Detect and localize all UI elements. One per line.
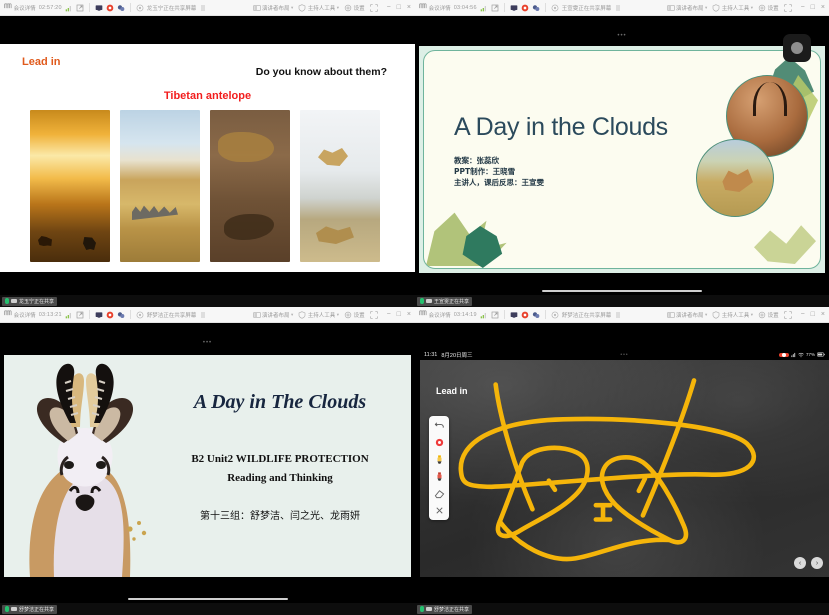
color-red-icon[interactable]: [434, 437, 445, 448]
highlighter-yellow-icon[interactable]: [434, 454, 445, 465]
pane3-settings-button[interactable]: 设置: [344, 311, 365, 319]
pane1-settings-label: 设置: [354, 4, 365, 12]
cloud-record-icon[interactable]: [532, 311, 540, 319]
letterbox-top: •••: [0, 339, 415, 355]
camera-icon: [426, 299, 432, 303]
pane4-settings-button[interactable]: 设置: [758, 311, 779, 319]
pane2-sharer-chip: 王宣雯正在共享: [417, 297, 472, 306]
pane1-host-tools-menu[interactable]: 主持人工具 ▾: [298, 4, 339, 12]
fullscreen-icon[interactable]: [784, 311, 792, 319]
chevron-down-icon: ▾: [337, 312, 339, 318]
layout-icon: [253, 4, 261, 12]
pane2-slide: A Day in the Clouds 教案：张蕊欣 PPT制作：王晓雪 主讲人…: [419, 46, 825, 273]
board-page-nav: ‹ ›: [794, 557, 823, 569]
slide-subtitle-line1: B2 Unit2 WILDLIFE PROTECTION: [154, 453, 406, 465]
screen-share-icon[interactable]: [95, 311, 103, 319]
minimize-button[interactable]: −: [387, 4, 391, 11]
pane1-sharer-chip: 龙玉宁正在共享: [2, 297, 57, 306]
fullscreen-icon[interactable]: [370, 4, 378, 12]
pane3-layout-menu[interactable]: 演讲者布局 ▾: [253, 311, 294, 319]
pane3-layout-menu-label: 演讲者布局: [262, 311, 290, 319]
divider: [89, 310, 90, 319]
gazelle-illustration: [8, 357, 148, 577]
divider: [130, 3, 131, 12]
layout-icon: [253, 311, 261, 319]
pane-cover-slide: ᗰᗰ 会议详情 03:13:21 舒梦洁正在共享屏幕 演讲者布局 ▾: [0, 307, 415, 615]
pane4-host-tools-label: 主持人工具: [722, 311, 750, 319]
share-status-icon: [551, 4, 559, 12]
gear-icon: [344, 4, 352, 12]
tencent-meeting-logo-icon: ᗰᗰ: [419, 311, 426, 318]
maximize-button[interactable]: □: [397, 311, 401, 318]
pane1-meeting-timer: 02:57:20: [39, 5, 62, 11]
pane3-host-tools-label: 主持人工具: [308, 311, 336, 319]
pane3-titlebar: ᗰᗰ 会议详情 03:13:21 舒梦洁正在共享屏幕 演讲者布局 ▾: [0, 307, 415, 323]
board-lead-in-label: Lead in: [436, 386, 468, 396]
chevron-down-icon: ▾: [705, 5, 707, 11]
signal-icon: [480, 4, 488, 12]
battery-icon: [817, 352, 825, 357]
gear-icon: [344, 311, 352, 319]
pane4-sharer-name: 舒梦洁正在共享: [434, 606, 469, 613]
pen-red-icon[interactable]: [434, 471, 445, 482]
pane2-settings-button[interactable]: 设置: [758, 4, 779, 12]
pane4-share-status: 舒梦洁正在共享屏幕: [562, 311, 612, 319]
pane4-settings-label: 设置: [768, 311, 779, 319]
chevron-down-icon: ▾: [291, 5, 293, 11]
pane1-titlebar-right: 演讲者布局 ▾ 主持人工具 ▾ 设置 − □ ×: [253, 4, 412, 12]
cloud-record-icon[interactable]: [532, 4, 540, 12]
pane1-footer: 龙玉宁正在共享: [0, 295, 415, 307]
pane-lead-in: ᗰᗰ 会议详情 02:57:20 龙玉宁正在共享屏幕 演讲者布局 ▾: [0, 0, 415, 307]
pane4-meeting-timer: 03:14:19: [454, 312, 477, 318]
pane1-host-tools-label: 主持人工具: [308, 4, 336, 12]
slide-subject: Tibetan antelope: [0, 90, 415, 102]
collapse-icon[interactable]: [614, 311, 622, 319]
pane2-layout-menu-label: 演讲者布局: [676, 4, 704, 12]
pane3-titlebar-right: 演讲者布局 ▾ 主持人工具 ▾ 设置 − □ ×: [253, 311, 412, 319]
phone-date: 8月20日周三: [441, 351, 472, 359]
pane1-settings-button[interactable]: 设置: [344, 4, 365, 12]
letterbox-top: [0, 32, 415, 44]
record-icon[interactable]: [106, 311, 114, 319]
pane1-window-controls: − □ ×: [387, 4, 411, 11]
share-toolbar-handle[interactable]: •••: [617, 34, 626, 38]
pane1-slide: Lead in Do you know about them? Tibetan …: [0, 44, 415, 272]
signal-icon: [65, 311, 73, 319]
pane-title-slide: ᗰᗰ 会议详情 03:04:56 王宣雯正在共享屏幕 演讲者布局 ▾: [415, 0, 829, 307]
share-toolbar-handle[interactable]: •••: [620, 352, 628, 358]
tencent-meeting-logo-icon: ᗰᗰ: [419, 4, 426, 11]
letterbox-bottom: [420, 577, 829, 587]
slide-question: Do you know about them?: [256, 66, 387, 78]
letterbox-bottom: [0, 272, 415, 288]
pane2-stage: ••• A Day in the Clouds 教案：张蕊欣 PPT制作：王晓雪…: [415, 16, 829, 295]
prev-page-button[interactable]: ‹: [794, 557, 806, 569]
layout-icon: [667, 311, 675, 319]
pane2-host-tools-menu[interactable]: 主持人工具 ▾: [712, 4, 753, 12]
pane4-host-tools-menu[interactable]: 主持人工具 ▾: [712, 311, 753, 319]
chevron-down-icon: ▾: [705, 312, 707, 318]
fullscreen-icon[interactable]: [784, 4, 792, 12]
pane2-settings-label: 设置: [768, 4, 779, 12]
pane2-host-tools-label: 主持人工具: [722, 4, 750, 12]
antelope-photo-herd: [120, 110, 200, 262]
pane4-titlebar: ᗰᗰ 会议详情 03:14:19 舒梦洁正在共享屏幕 演讲者布局 ▾: [415, 307, 829, 323]
microphone-icon: [420, 606, 424, 612]
pane4-layout-menu-label: 演讲者布局: [676, 311, 704, 319]
record-icon[interactable]: [106, 4, 114, 12]
pane2-layout-menu[interactable]: 演讲者布局 ▾: [667, 4, 708, 12]
slide-group-members: 第十三组：舒梦洁、闫之光、龙雨妍: [154, 507, 406, 522]
antelope-photo-carcass: [210, 110, 290, 262]
maximize-button[interactable]: □: [811, 4, 815, 11]
page-scroll-indicator[interactable]: [128, 598, 288, 600]
slide-title: A Day in the Clouds: [454, 113, 668, 142]
share-status-icon: [136, 311, 144, 319]
antelope-photo-snow: [300, 110, 380, 262]
collapse-icon[interactable]: [199, 311, 207, 319]
divider: [504, 310, 505, 319]
pane2-window-controls: − □ ×: [801, 4, 825, 11]
signal-icon: [65, 4, 73, 12]
shield-icon: [298, 311, 306, 319]
gear-icon: [758, 311, 766, 319]
record-icon[interactable]: [521, 4, 529, 12]
slide-title: A Day in The Clouds: [154, 391, 406, 414]
divider: [89, 3, 90, 12]
pane2-meeting-timer: 03:04:56: [454, 5, 477, 11]
divider: [545, 310, 546, 319]
close-icon[interactable]: [434, 505, 445, 516]
pane2-meeting-detail-label[interactable]: 会议详情: [429, 4, 451, 12]
pane3-meeting-timer: 03:13:21: [39, 312, 62, 318]
tencent-meeting-logo-icon: ᗰᗰ: [4, 4, 11, 11]
shield-icon: [712, 311, 720, 319]
maximize-button[interactable]: □: [397, 4, 401, 11]
tencent-meeting-logo-icon: ᗰᗰ: [4, 311, 11, 318]
annotation-layer: [420, 360, 829, 577]
pane3-settings-label: 设置: [354, 311, 365, 319]
blackboard-canvas[interactable]: Lead in: [420, 360, 829, 577]
pane3-slide: A Day in The Clouds B2 Unit2 WILDLIFE PR…: [4, 355, 411, 577]
camera-icon: [11, 607, 17, 611]
screen-share-icon[interactable]: [510, 311, 518, 319]
shared-phone-screen: 11:31 8月20日周三 ••• 77% Lead in: [420, 349, 829, 587]
popout-icon[interactable]: [491, 4, 499, 12]
recording-badge: [779, 353, 789, 357]
share-toolbar-handle[interactable]: •••: [203, 341, 212, 345]
next-page-button[interactable]: ›: [811, 557, 823, 569]
slide-credits: 教案：张蕊欣 PPT制作：王晓雪 主讲人，课后反思：王宣雯: [454, 155, 544, 188]
pane3-footer: 舒梦洁正在共享: [0, 603, 415, 615]
close-button[interactable]: ×: [407, 4, 411, 11]
close-button[interactable]: ×: [821, 311, 825, 318]
minimize-button[interactable]: −: [387, 311, 391, 318]
collapse-icon[interactable]: [199, 4, 207, 12]
pane1-layout-menu[interactable]: 演讲者布局 ▾: [253, 4, 294, 12]
divider: [504, 3, 505, 12]
pane1-layout-menu-label: 演讲者布局: [262, 4, 290, 12]
phone-status-bar: 11:31 8月20日周三 ••• 77%: [420, 349, 829, 360]
antelope-photo-sunset: [30, 110, 110, 262]
pane4-meeting-detail-label[interactable]: 会议详情: [429, 311, 451, 319]
shield-icon: [712, 4, 720, 12]
presenter-video-bubble[interactable]: [783, 34, 811, 62]
quad-view-grid: ᗰᗰ 会议详情 02:57:20 龙玉宁正在共享屏幕 演讲者布局 ▾: [0, 0, 829, 615]
chevron-down-icon: ▾: [337, 5, 339, 11]
shield-icon: [298, 4, 306, 12]
lead-in-label: Lead in: [22, 56, 61, 68]
minimize-button[interactable]: −: [801, 4, 805, 11]
pane4-titlebar-right: 演讲者布局 ▾ 主持人工具 ▾ 设置 − □ ×: [667, 311, 826, 319]
pane1-titlebar: ᗰᗰ 会议详情 02:57:20 龙玉宁正在共享屏幕 演讲者布局 ▾: [0, 0, 415, 16]
pane3-sharer-chip: 舒梦洁正在共享: [2, 605, 57, 614]
pane2-titlebar-right: 演讲者布局 ▾ 主持人工具 ▾ 设置 − □ ×: [667, 4, 826, 12]
signal-icon: [480, 311, 488, 319]
letterbox-top: •••: [415, 32, 829, 46]
pane1-share-status: 龙玉宁正在共享屏幕: [147, 4, 197, 12]
screen-share-icon[interactable]: [95, 4, 103, 12]
cloud-record-icon[interactable]: [117, 311, 125, 319]
chevron-down-icon: ▾: [751, 5, 753, 11]
pane3-host-tools-menu[interactable]: 主持人工具 ▾: [298, 311, 339, 319]
pane3-sharer-name: 舒梦洁正在共享: [19, 606, 54, 613]
gear-icon: [758, 4, 766, 12]
pane2-share-status: 王宣雯正在共享屏幕: [562, 4, 612, 12]
wifi-icon: [798, 352, 804, 358]
undo-icon[interactable]: [434, 420, 445, 431]
fern-leaf-icon: [754, 220, 816, 264]
collapse-icon[interactable]: [614, 4, 622, 12]
pane4-layout-menu[interactable]: 演讲者布局 ▾: [667, 311, 708, 319]
phone-status-icons: 77%: [779, 352, 825, 358]
screen-share-icon[interactable]: [510, 4, 518, 12]
pane4-window-controls: − □ ×: [801, 311, 825, 318]
microphone-icon: [5, 298, 9, 304]
page-scroll-indicator[interactable]: [542, 290, 702, 292]
divider: [130, 310, 131, 319]
close-button[interactable]: ×: [821, 4, 825, 11]
signal-bars-icon: [791, 352, 796, 358]
popout-icon[interactable]: [491, 311, 499, 319]
slide-card: A Day in the Clouds 教案：张蕊欣 PPT制作：王晓雪 主讲人…: [423, 50, 821, 269]
pane-blackboard: ᗰᗰ 会议详情 03:14:19 舒梦洁正在共享屏幕 演讲者布局 ▾: [415, 307, 829, 615]
pane3-meeting-detail-label[interactable]: 会议详情: [14, 311, 36, 319]
record-icon[interactable]: [521, 311, 529, 319]
pane1-sharer-name: 龙玉宁正在共享: [19, 298, 54, 305]
phone-clock: 11:31: [424, 352, 437, 358]
pane3-window-controls: − □ ×: [387, 311, 411, 318]
pane1-stage: Lead in Do you know about them? Tibetan …: [0, 16, 415, 295]
cloud-record-icon[interactable]: [117, 4, 125, 12]
pane4-footer: 舒梦洁正在共享: [415, 603, 829, 615]
battery-percent: 77%: [806, 352, 815, 357]
pane2-footer: 王宣雯正在共享: [415, 295, 829, 307]
annotation-toolbar: [429, 416, 449, 520]
pane3-stage: •••: [0, 323, 415, 603]
maximize-button[interactable]: □: [811, 311, 815, 318]
close-button[interactable]: ×: [407, 311, 411, 318]
microphone-icon: [5, 606, 9, 612]
pane4-sharer-chip: 舒梦洁正在共享: [417, 605, 472, 614]
share-status-icon: [136, 4, 144, 12]
chevron-down-icon: ▾: [291, 312, 293, 318]
chevron-down-icon: ▾: [751, 312, 753, 318]
avatar: [791, 42, 803, 54]
minimize-button[interactable]: −: [801, 311, 805, 318]
pane1-meeting-detail-label[interactable]: 会议详情: [14, 4, 36, 12]
pane3-share-status: 舒梦洁正在共享屏幕: [147, 311, 197, 319]
layout-icon: [667, 4, 675, 12]
eraser-icon[interactable]: [434, 488, 445, 499]
slide-subtitle-line2: Reading and Thinking: [154, 472, 406, 484]
camera-icon: [11, 299, 17, 303]
pane4-stage: 11:31 8月20日周三 ••• 77% Lead in: [415, 323, 829, 603]
popout-icon[interactable]: [76, 4, 84, 12]
photo-row: [30, 110, 380, 262]
popout-icon[interactable]: [76, 311, 84, 319]
camera-icon: [426, 607, 432, 611]
fullscreen-icon[interactable]: [370, 311, 378, 319]
microphone-icon: [420, 298, 424, 304]
gazelle-field-circle: [696, 139, 774, 217]
share-status-icon: [551, 311, 559, 319]
pane2-sharer-name: 王宣雯正在共享: [434, 298, 469, 305]
record-dot-icon: [782, 353, 786, 357]
divider: [545, 3, 546, 12]
pane2-titlebar: ᗰᗰ 会议详情 03:04:56 王宣雯正在共享屏幕 演讲者布局 ▾: [415, 0, 829, 16]
